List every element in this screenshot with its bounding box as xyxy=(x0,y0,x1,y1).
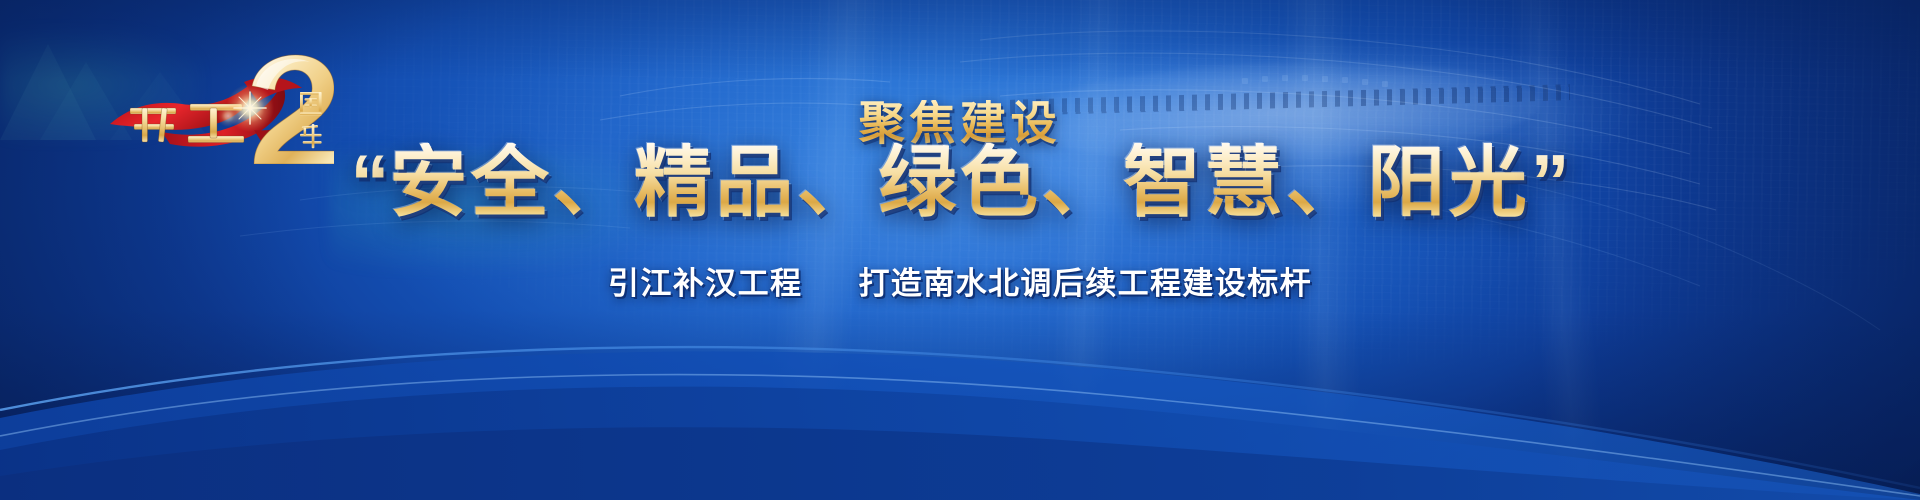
headline-group: 聚焦建设 “安全、精品、绿色、智慧、阳光” 引江补汉工程 打造南水北调后续工程建… xyxy=(0,0,1920,500)
promo-banner: 聚焦建设 “安全、精品、绿色、智慧、阳光” 引江补汉工程 打造南水北调后续工程建… xyxy=(0,0,1920,500)
subtitle-part-2: 打造南水北调后续工程建设标杆 xyxy=(858,266,1312,301)
close-quote-mark: ” xyxy=(1531,143,1570,221)
subtitle-part-1: 引江补汉工程 xyxy=(608,266,802,301)
subtitle-row: 引江补汉工程 打造南水北调后续工程建设标杆 xyxy=(0,258,1920,303)
main-title-row: “安全、精品、绿色、智慧、阳光” xyxy=(0,143,1920,221)
main-title: 安全、精品、绿色、智慧、阳光 xyxy=(389,143,1530,221)
open-quote-mark: “ xyxy=(350,143,389,221)
